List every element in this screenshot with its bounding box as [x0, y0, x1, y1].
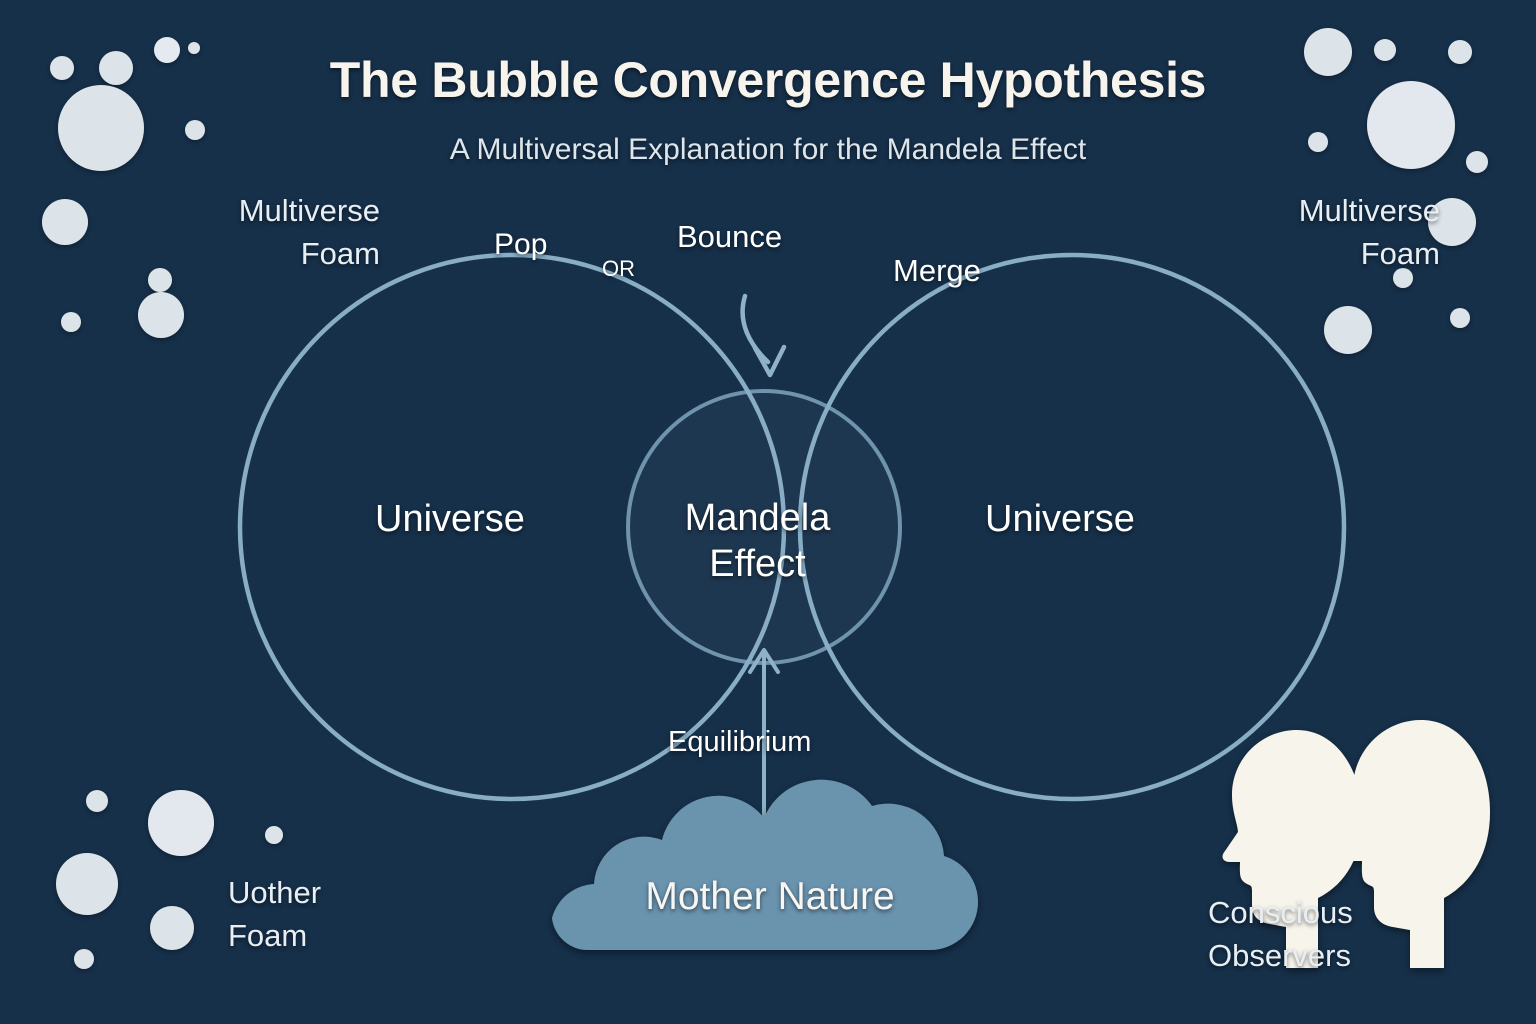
- label-foam-bottom-left: Uother Foam: [228, 872, 428, 958]
- foam-bubble: [1450, 308, 1470, 328]
- foam-bubble: [138, 292, 184, 338]
- foam-bubble: [86, 790, 108, 812]
- label-universe-right: Universe: [985, 498, 1135, 541]
- foam-bubble: [1324, 306, 1372, 354]
- foam-bubble: [148, 790, 214, 856]
- page-title: The Bubble Convergence Hypothesis: [0, 52, 1536, 108]
- label-multiverse-foam-top-right: Multiverse Foam: [1205, 190, 1440, 276]
- label-or: OR: [602, 257, 635, 282]
- foam-bubble: [150, 906, 194, 950]
- label-merge: Merge: [893, 254, 981, 289]
- label-bounce: Bounce: [677, 220, 782, 255]
- foam-bubble: [56, 853, 118, 915]
- bounce-arrow-icon: [743, 296, 784, 375]
- label-mother-nature: Mother Nature: [560, 875, 980, 919]
- label-mandela-effect: Mandela Effect: [625, 495, 890, 588]
- foam-bubble: [74, 949, 94, 969]
- label-pop: Pop: [494, 228, 547, 262]
- page-subtitle: A Multiversal Explanation for the Mandel…: [0, 133, 1536, 167]
- foam-bubble: [61, 312, 81, 332]
- label-equilibrium: Equilibrium: [668, 726, 811, 758]
- foam-bubble: [265, 826, 283, 844]
- label-conscious-observers: Conscious Observers: [1208, 892, 1353, 978]
- foam-bubble: [42, 199, 88, 245]
- label-universe-left: Universe: [375, 498, 525, 541]
- label-multiverse-foam-top-left: Multiverse Foam: [145, 190, 380, 276]
- infographic-canvas: The Bubble Convergence Hypothesis A Mult…: [0, 0, 1536, 1024]
